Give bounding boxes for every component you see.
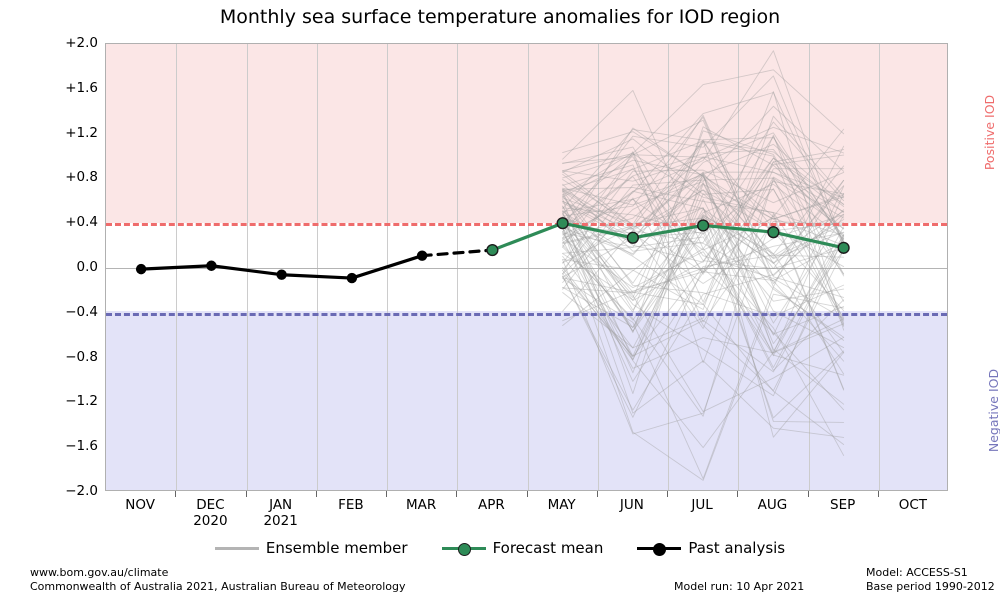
x-tick-label: JAN2021 (241, 497, 321, 529)
x-axis-tick-labels: NOVDEC2020JAN2021FEBMARAPRMAYJUNJULAUGSE… (105, 497, 948, 537)
legend-swatch-past-analysis (637, 541, 681, 555)
x-tick-label: MAY (522, 497, 602, 513)
x-tick-label: JUN (592, 497, 672, 513)
x-tick-month: JUL (691, 497, 712, 513)
forecast-mean-marker (487, 245, 498, 256)
x-tick-month: MAR (406, 497, 436, 513)
x-tick-month: JAN (269, 497, 292, 513)
negative-iod-annotation: Negative IOD (986, 369, 1000, 452)
x-tick-label: OCT (873, 497, 953, 513)
legend-swatch-forecast-mean (442, 541, 486, 555)
x-tick-year: 2020 (170, 513, 250, 529)
y-tick-label: +1.6 (40, 80, 98, 96)
x-tick-month: DEC (196, 497, 224, 513)
x-tick-label: NOV (100, 497, 180, 513)
forecast-mean-polyline (492, 223, 843, 250)
y-tick-label: 0.0 (40, 259, 98, 275)
x-tick-label: AUG (732, 497, 812, 513)
y-tick-label: −2.0 (40, 483, 98, 499)
legend-label-past-analysis: Past analysis (688, 539, 785, 557)
y-tick-label: −0.4 (40, 304, 98, 320)
footer-base-period: Base period 1990-2012 (866, 580, 995, 594)
footer-model-run: Model run: 10 Apr 2021 (674, 580, 804, 593)
plot-area (105, 43, 948, 491)
x-tick-label: FEB (311, 497, 391, 513)
forecast-mean-marker (627, 232, 638, 243)
forecast-mean-marker (768, 227, 779, 238)
x-tick-label: JUL (662, 497, 742, 513)
y-tick-label: +1.2 (40, 125, 98, 141)
x-tick-label: MAR (381, 497, 461, 513)
forecast-mean-line (106, 44, 948, 491)
y-axis-tick-labels: +2.0+1.6+1.2+0.8+0.40.0−0.4−0.8−1.2−1.6−… (36, 43, 98, 491)
x-tick-label: SEP (803, 497, 883, 513)
x-tick-month: NOV (125, 497, 155, 513)
footer-left: www.bom.gov.au/climate Commonwealth of A… (30, 566, 405, 594)
legend-label-forecast-mean: Forecast mean (493, 539, 604, 557)
legend-item-forecast-mean: Forecast mean (442, 539, 604, 557)
x-tick-label: DEC2020 (170, 497, 250, 529)
forecast-mean-marker (698, 220, 709, 231)
y-tick-label: +0.4 (40, 214, 98, 230)
footer-model: Model: ACCESS-S1 (866, 566, 995, 580)
positive-iod-annotation: Positive IOD (982, 95, 997, 170)
y-tick-label: −1.2 (40, 393, 98, 409)
legend-label-ensemble-member: Ensemble member (266, 539, 408, 557)
footer-copyright: Commonwealth of Australia 2021, Australi… (30, 580, 405, 594)
y-tick-label: −0.8 (40, 349, 98, 365)
footer-right: Model: ACCESS-S1 Base period 1990-2012 (866, 566, 995, 594)
x-tick-month: AUG (758, 497, 788, 513)
y-tick-label: −1.6 (40, 438, 98, 454)
legend-swatch-ensemble-member (215, 541, 259, 555)
x-tick-month: APR (478, 497, 505, 513)
x-tick-month: JUN (620, 497, 644, 513)
y-tick-label: +0.8 (40, 169, 98, 185)
chart-figure: Monthly sea surface temperature anomalie… (0, 0, 1000, 600)
page-title: Monthly sea surface temperature anomalie… (0, 6, 1000, 28)
chart-legend: Ensemble member Forecast mean Past analy… (0, 533, 1000, 563)
x-tick-year: 2021 (241, 513, 321, 529)
forecast-mean-marker (557, 218, 568, 229)
forecast-mean-marker (838, 242, 849, 253)
legend-item-past-analysis: Past analysis (637, 539, 785, 557)
x-tick-month: OCT (899, 497, 927, 513)
x-tick-label: APR (451, 497, 531, 513)
footer: www.bom.gov.au/climate Commonwealth of A… (0, 566, 1000, 600)
footer-url: www.bom.gov.au/climate (30, 566, 405, 580)
legend-item-ensemble-member: Ensemble member (215, 539, 408, 557)
x-tick-month: MAY (548, 497, 576, 513)
x-tick-month: SEP (830, 497, 855, 513)
x-tick-month: FEB (338, 497, 364, 513)
y-tick-label: +2.0 (40, 35, 98, 51)
